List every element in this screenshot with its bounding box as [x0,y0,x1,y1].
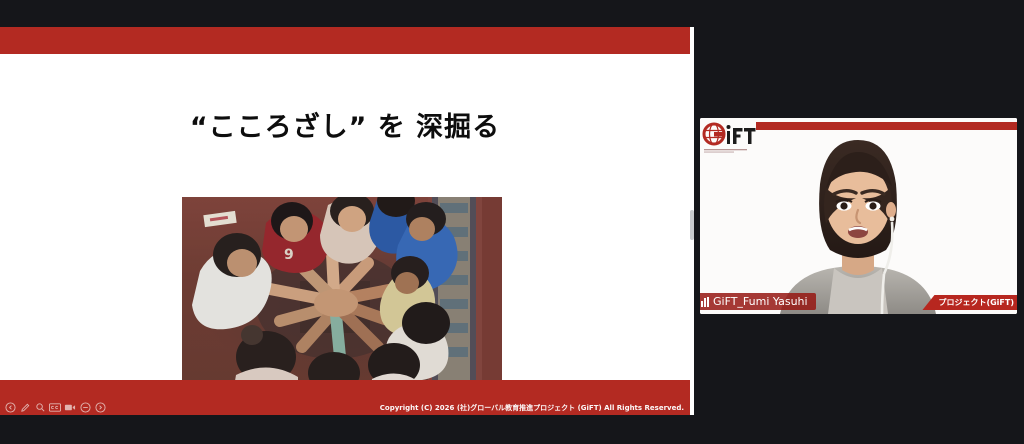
presentation-slide[interactable]: “こころざし” を 深掘る [0,27,690,415]
participant-name-text: GiFT_Fumi Yasuhi [713,295,808,308]
slide-bottom-accent-bar: Copyright (C) 2026 (社)グローバル教育推進プロジェクト (G… [0,380,690,415]
forward-arrow-icon[interactable] [94,401,106,413]
gift-logo [702,122,756,156]
participant-name-label: GiFT_Fumi Yasuhi [700,293,816,310]
minus-circle-icon[interactable] [79,401,91,413]
video-camera-icon[interactable] [64,401,76,413]
annotation-toolbar[interactable] [4,401,106,413]
audio-level-bars-icon [700,297,709,307]
vertical-scrollbar-thumb[interactable] [690,210,694,240]
background-project-banner: プロジェクト(GiFT) [922,295,1017,310]
zoom-meeting-window: “こころざし” を 深掘る [0,0,1024,444]
participant-video-tile[interactable]: プロジェクト(GiFT) GiFT_Fumi Yasuhi [700,118,1017,314]
slide-photo: 9 [182,197,502,382]
slide-title: “こころざし” を 深掘る [0,105,690,144]
pen-icon[interactable] [19,401,31,413]
shared-screen-region[interactable]: “こころざし” を 深掘る [0,0,694,444]
closed-caption-icon[interactable] [49,401,61,413]
slide-copyright-text: Copyright (C) 2026 (社)グローバル教育推進プロジェクト (G… [380,403,684,413]
background-red-strip [756,122,1017,130]
magnifier-icon[interactable] [34,401,46,413]
slide-top-accent-bar [0,27,690,54]
back-arrow-icon[interactable] [4,401,16,413]
